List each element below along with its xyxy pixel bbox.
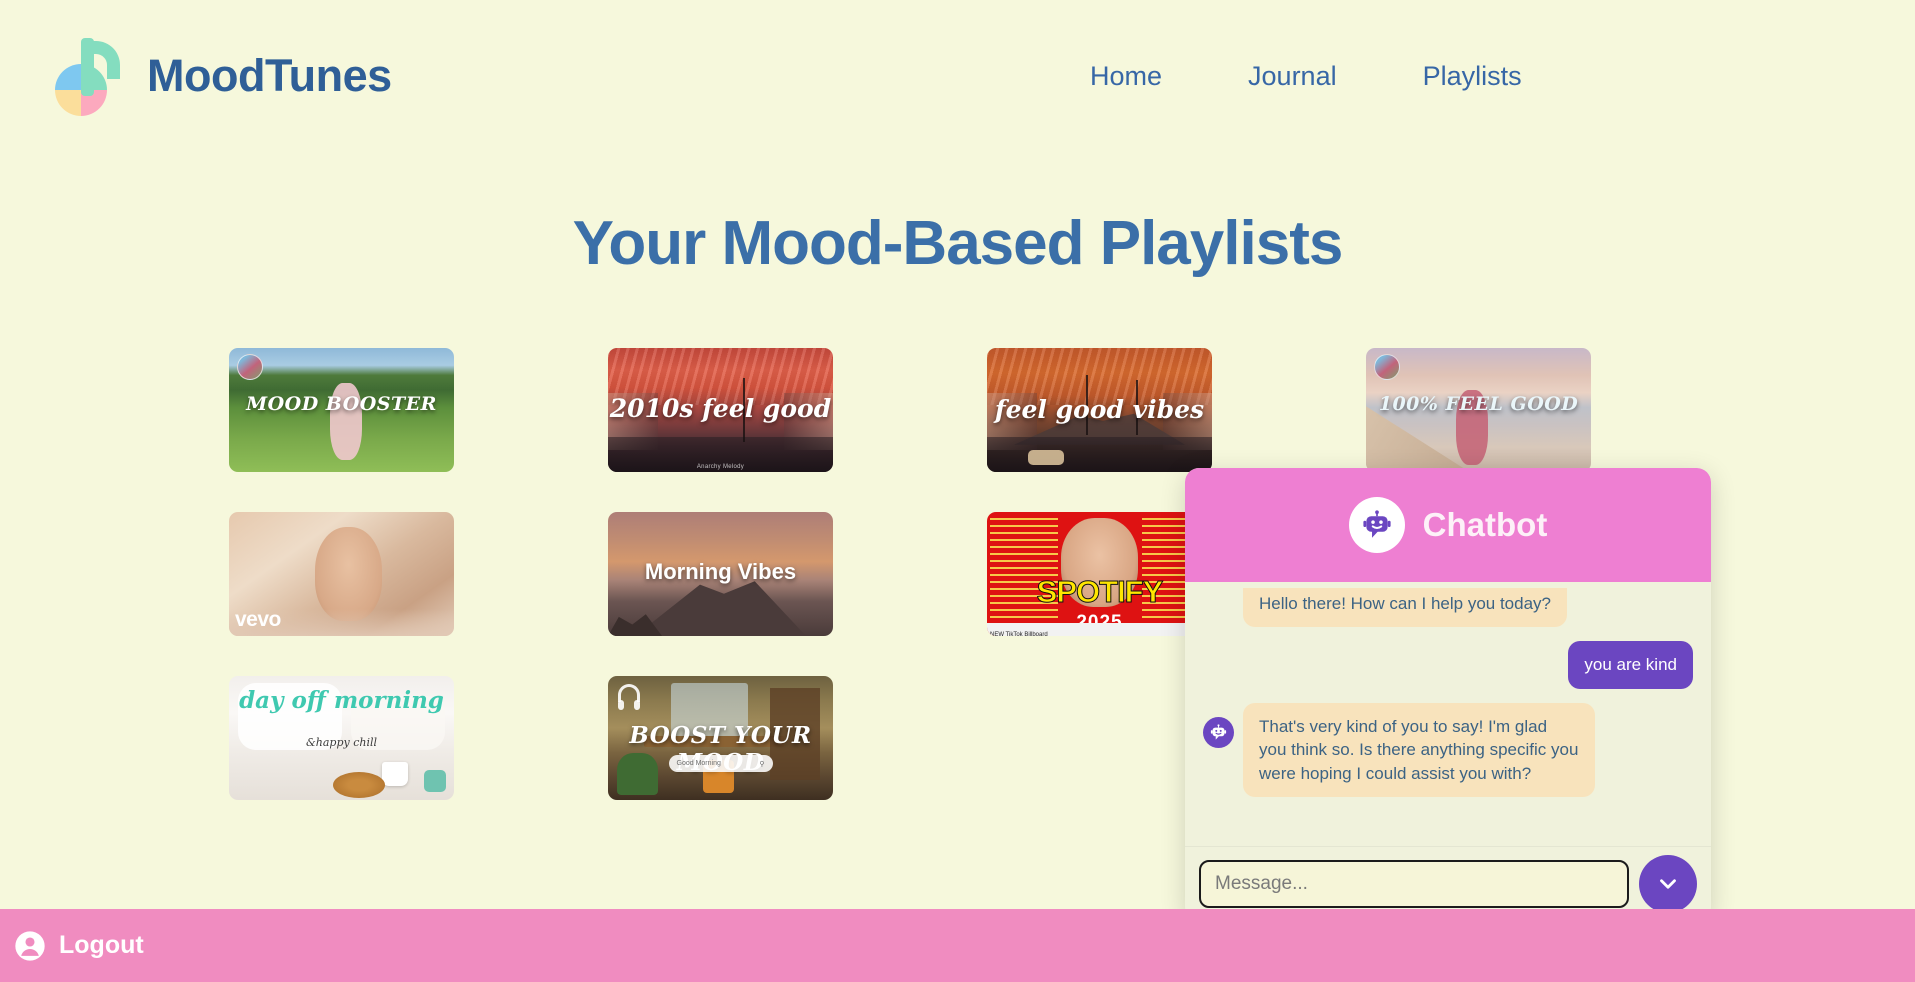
- nav-journal[interactable]: Journal: [1248, 61, 1337, 92]
- chevron-down-icon: [1655, 871, 1681, 897]
- thumbnail-image: [987, 348, 1212, 472]
- thumbnail-image: [608, 676, 833, 800]
- playlist-card-boost-your-mood[interactable]: BOOST YOUR MOOD Good Morning ⚲: [608, 676, 833, 800]
- chatbot-header: Chatbot: [1185, 468, 1711, 582]
- vevo-watermark: vevo: [235, 608, 281, 632]
- channel-avatar-icon: [237, 354, 263, 380]
- logo-quadrant-blue: [55, 64, 81, 90]
- scene-pillow: [238, 683, 342, 750]
- playlist-credit: Anarchy Melody: [608, 464, 833, 470]
- scene-window: [671, 683, 748, 740]
- bot-message-bubble: That's very kind of you to say! I'm glad…: [1243, 703, 1595, 797]
- playlist-title: SPOTIFY: [987, 574, 1212, 610]
- thumbnail-footer-bar: NEW TikTok Billboard: [987, 623, 1212, 636]
- message-input[interactable]: [1199, 860, 1629, 908]
- robot-icon: [1349, 497, 1405, 553]
- playlist-card-vevo-video[interactable]: vevo: [229, 512, 454, 636]
- chatbot-title: Chatbot: [1423, 506, 1548, 544]
- playlist-card-mood-booster[interactable]: MOOD BOOSTER: [229, 348, 454, 472]
- scene-desk: [644, 736, 784, 747]
- message-row-user: you are kind: [1203, 641, 1693, 688]
- scene-search-pill: Good Morning ⚲: [669, 755, 773, 772]
- scene-shelf: [770, 688, 820, 780]
- user-message-bubble: you are kind: [1568, 641, 1693, 688]
- playlist-card-feel-good-vibes[interactable]: feel good vibes: [987, 348, 1212, 472]
- main-nav: Home Journal Playlists: [1090, 0, 1522, 152]
- channel-avatar-icon: [1374, 354, 1400, 380]
- scene-plant: [617, 753, 658, 795]
- thumbnail-footer-label: NEW TikTok Billboard: [987, 632, 1048, 636]
- nav-playlists[interactable]: Playlists: [1423, 61, 1522, 92]
- app-root: MoodTunes Home Journal Playlists Your Mo…: [0, 0, 1915, 982]
- scene-pole: [1086, 375, 1088, 435]
- scene-pole: [1136, 380, 1138, 435]
- scene-face: [315, 527, 383, 621]
- headphones-icon: [618, 684, 640, 702]
- scene-sand: [1366, 388, 1470, 472]
- playlist-card-morning-vibes[interactable]: Morning Vibes: [608, 512, 833, 636]
- thumbnail-image: [608, 348, 833, 472]
- chatbot-panel: Chatbot Hello there! How can I help you …: [1185, 468, 1711, 920]
- send-button[interactable]: [1639, 855, 1697, 913]
- playlist-card-2010s-feel-good[interactable]: 2010s feel good Anarchy Melody: [608, 348, 833, 472]
- search-icon: ⚲: [759, 760, 764, 768]
- scene-car: [1028, 450, 1064, 465]
- playlist-row: MOOD BOOSTER 2010s feel good Anarchy Mel…: [229, 348, 1729, 472]
- user-circle-icon: [14, 930, 46, 962]
- playlist-card-day-off-morning[interactable]: day off morning &happy chill: [229, 676, 454, 800]
- nav-home[interactable]: Home: [1090, 61, 1162, 92]
- scene-pastry: [333, 772, 385, 798]
- search-pill-label: Good Morning: [677, 760, 721, 767]
- scene-road: [987, 437, 1212, 472]
- thumbnail-image: SPOTIFY 2025 NEW TikTok Billboard: [987, 512, 1212, 636]
- music-note-mood-logo-icon: [55, 36, 133, 116]
- scene-coffee-cup: [382, 762, 408, 786]
- scene-logo-stamp: [424, 770, 446, 792]
- thumbnail-image: [229, 676, 454, 800]
- robot-icon: [1203, 717, 1234, 748]
- playlist-card-spotify-2025[interactable]: SPOTIFY 2025 NEW TikTok Billboard: [987, 512, 1212, 636]
- logout-label: Logout: [59, 931, 144, 960]
- message-row-bot: Hello there! How can I help you today?: [1203, 588, 1693, 627]
- thumbnail-image: [608, 512, 833, 636]
- page-title: Your Mood-Based Playlists: [0, 208, 1915, 279]
- site-footer: Logout: [0, 909, 1915, 982]
- bot-message-bubble: Hello there! How can I help you today?: [1243, 588, 1567, 627]
- scene-pole: [743, 378, 745, 442]
- chatbot-messages: Hello there! How can I help you today? y…: [1185, 582, 1711, 846]
- playlist-card-100-feel-good[interactable]: 100% FEEL GOOD: [1366, 348, 1591, 472]
- scene-mountain: [635, 579, 806, 636]
- brand-name: MoodTunes: [147, 50, 392, 102]
- brand-logo[interactable]: MoodTunes: [55, 36, 392, 116]
- logo-note-flag: [88, 41, 120, 79]
- message-row-bot: That's very kind of you to say! I'm glad…: [1203, 703, 1693, 797]
- scene-person: [330, 383, 362, 460]
- logo-quadrant-yellow: [55, 90, 81, 116]
- site-header: MoodTunes Home Journal Playlists: [0, 0, 1915, 152]
- scene-person: [1456, 390, 1488, 464]
- logout-button[interactable]: Logout: [14, 930, 144, 962]
- scene-blanket: [351, 696, 446, 751]
